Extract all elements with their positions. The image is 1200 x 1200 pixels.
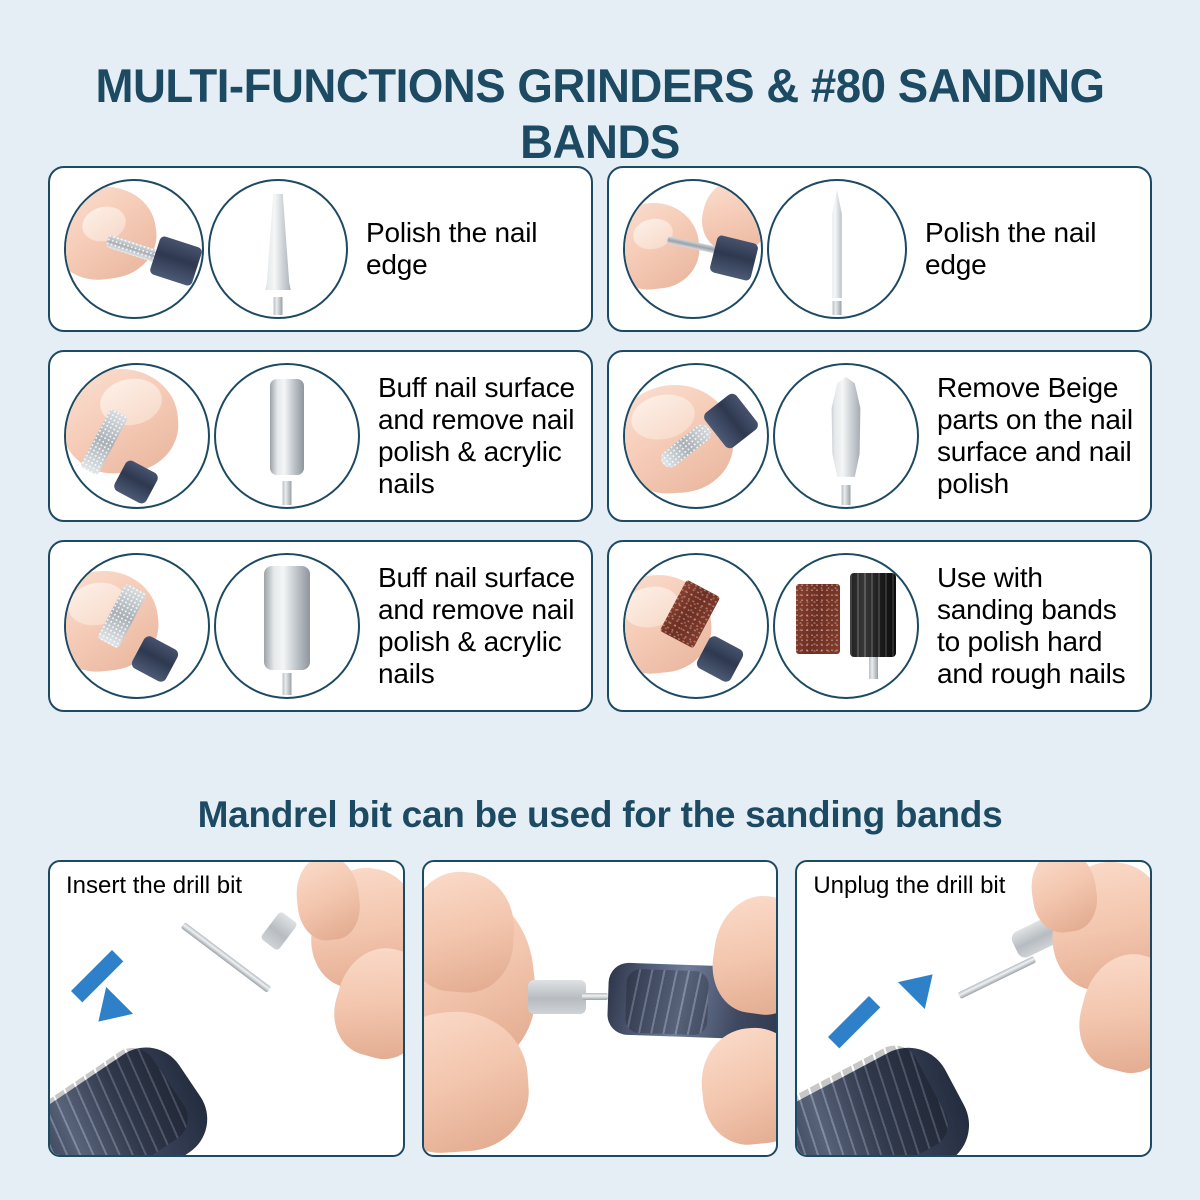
thin-barrel-bit-icon — [270, 379, 304, 475]
sanding-band-icon — [796, 584, 840, 654]
tapered-cone-bit-icon — [258, 194, 298, 290]
usage-photo-circle-5 — [64, 553, 210, 699]
finger-illustration — [697, 1023, 779, 1149]
panel-unplug-label: Unplug the drill bit — [813, 872, 1005, 900]
grinder-card-2: Polish the nail edge — [607, 166, 1152, 332]
panel-insert-label: Insert the drill bit — [66, 872, 242, 900]
bit-closeup-circle-3 — [214, 363, 360, 509]
bit-closeup-circle-6 — [773, 553, 919, 699]
drill-bit-rod — [582, 993, 608, 1000]
card-6-description: Use with sanding bands to polish hard an… — [919, 562, 1140, 690]
grinder-card-5: Buff nail surface and remove nail polish… — [48, 540, 593, 712]
card-3-description: Buff nail surface and remove nail polish… — [360, 372, 581, 500]
panel-bit-seated — [422, 860, 779, 1157]
usage-photo-circle-4 — [623, 363, 769, 509]
mandrel-bit-icon — [850, 573, 896, 657]
mandrel-shank-icon — [869, 657, 878, 679]
usage-photo-circle-2 — [623, 179, 763, 319]
bit-shank-icon — [283, 673, 292, 695]
bit-closeup-circle-5 — [214, 553, 360, 699]
bit-wrap — [216, 555, 358, 697]
needle-point-bit-icon — [826, 190, 848, 298]
mandrel-bit — [528, 980, 586, 1014]
card-4-description: Remove Beige parts on the nail surface a… — [919, 372, 1140, 500]
handpiece-grip-rings — [625, 969, 709, 1036]
grinder-card-grid: Polish the nail edge Polish the nail edg… — [48, 166, 1152, 712]
bit-shank-icon — [283, 481, 292, 505]
page-title: MULTI-FUNCTIONS GRINDERS & #80 SANDING B… — [18, 58, 1182, 170]
grinder-card-3: Buff nail surface and remove nail polish… — [48, 350, 593, 522]
section-subtitle: Mandrel bit can be used for the sanding … — [0, 792, 1200, 838]
drill-bit-rod — [958, 956, 1037, 999]
bit-shank-icon — [274, 297, 283, 315]
card-2-description: Polish the nail edge — [907, 217, 1140, 281]
bit-shank-icon — [842, 485, 851, 505]
handpiece-collar — [149, 235, 203, 287]
bit-wrap — [775, 365, 917, 507]
bit-wrap — [216, 365, 358, 507]
grinder-card-1: Polish the nail edge — [48, 166, 593, 332]
usage-photo-circle-6 — [623, 553, 769, 699]
bit-closeup-circle-2 — [767, 179, 907, 319]
grinder-card-4: Remove Beige parts on the nail surface a… — [607, 350, 1152, 522]
bit-shank-icon — [833, 301, 842, 315]
usage-photo-circle-3 — [64, 363, 210, 509]
drill-bit-rod — [181, 922, 271, 993]
grinder-card-6: Use with sanding bands to polish hard an… — [607, 540, 1152, 712]
bit-closeup-circle-4 — [773, 363, 919, 509]
flame-olive-bit-icon — [826, 377, 866, 481]
usage-photo-circle-1 — [64, 179, 204, 319]
bit-wrap — [775, 555, 917, 697]
card-5-description: Buff nail surface and remove nail polish… — [360, 562, 581, 690]
infographic-page: MULTI-FUNCTIONS GRINDERS & #80 SANDING B… — [0, 0, 1200, 1200]
bit-wrap — [210, 181, 346, 317]
mandrel-assembly — [850, 573, 896, 679]
mandrel-usage-panels: Insert the drill bit — [48, 860, 1152, 1157]
bit-closeup-circle-1 — [208, 179, 348, 319]
bit-wrap — [769, 181, 905, 317]
panel-insert-drill-bit: Insert the drill bit — [48, 860, 405, 1157]
wide-barrel-bit-icon — [264, 566, 310, 670]
handpiece-grip-rings — [48, 1039, 197, 1157]
drill-bit-head — [260, 911, 298, 951]
panel-unplug-drill-bit: Unplug the drill bit — [795, 860, 1152, 1157]
card-1-description: Polish the nail edge — [348, 217, 581, 281]
